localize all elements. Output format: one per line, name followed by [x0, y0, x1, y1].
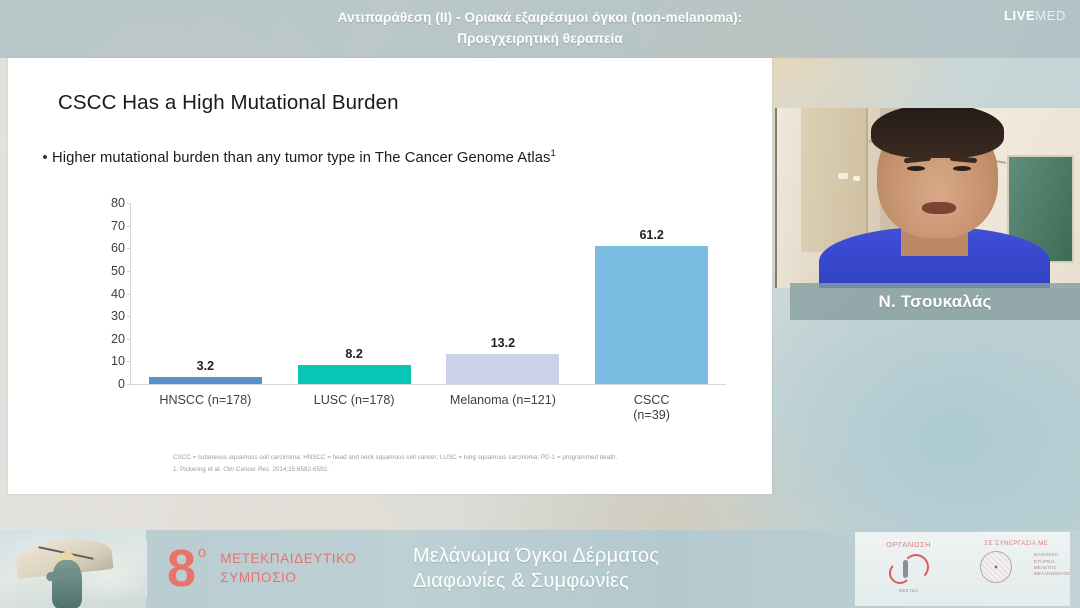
chart-bar-value-label: 61.2: [595, 228, 708, 242]
chart-x-tick-label: Melanoma (n=121): [432, 393, 573, 408]
chart-plot-area: 01020304050607080 3.2HNSCC (n=178)8.2LUS…: [130, 203, 726, 385]
chart-y-tick-label: 80: [111, 196, 125, 210]
slide-title: CSCC Has a High Mutational Burden: [58, 91, 399, 115]
chart-bar: [446, 354, 559, 384]
speaker-hair: [871, 108, 1004, 158]
session-title-line1: Αντιπαράθεση (II) - Οριακά εξαιρέσιμοι ό…: [338, 10, 743, 25]
video-background-cabinet-handle-secondary: [853, 176, 860, 181]
footnote-reference-journal: Clin Cancer Res.: [223, 466, 271, 473]
slide-bullet-superscript: 1: [550, 148, 555, 159]
mutational-burden-bar-chart: Median somatic mutation frequency/Mb 010…: [44, 195, 734, 430]
chart-y-tick-label: 0: [118, 377, 125, 391]
chart-bar-value-label: 3.2: [149, 359, 262, 373]
chart-y-tick-mark: [127, 384, 131, 385]
chart-x-tick-label: CSCC(n=39): [581, 393, 722, 423]
footnote-reference: 1. Pickering et al. Clin Cancer Res. 201…: [173, 464, 763, 476]
chart-x-tick-label: LUSC (n=178): [284, 393, 425, 408]
banner-event-title-line2: Διαφωνίες & Συμφωνίες: [413, 569, 855, 594]
slide-bullet-main: Higher mutational burden than any tumor …: [52, 150, 550, 166]
chart-bar-group: 8.2LUSC (n=178): [298, 203, 411, 384]
banner-edition-number: 8: [167, 547, 196, 591]
chart-bar: [595, 246, 708, 384]
speaker-eye-right: [953, 166, 971, 171]
banner-organizers: ΟΡΓΑΝΩΣΗ ΚΕΣΥΔΑ ΣΕ ΣΥΝΕΡΓΑΣΙΑ ΜΕ ΕΛΛΗΝΙΚ…: [855, 532, 1070, 606]
chart-bar-group: 13.2Melanoma (n=121): [446, 203, 559, 384]
banner-partner-caption: ΣΕ ΣΥΝΕΡΓΑΣΙΑ ΜΕ: [963, 540, 1071, 547]
session-title: Αντιπαράθεση (II) - Οριακά εξαιρέσιμοι ό…: [278, 8, 803, 50]
chart-y-tick-label: 20: [111, 332, 125, 346]
chart-y-tick-label: 40: [111, 287, 125, 301]
slide-bullet-text: Higher mutational burden than any tumor …: [52, 148, 556, 167]
chart-x-tick-label-line: HNSCC (n=178): [135, 393, 276, 408]
livemed-logo: LIVEMED: [1004, 8, 1066, 23]
chart-bar-value-label: 8.2: [298, 347, 411, 361]
chart-bar: [149, 377, 262, 384]
speaker-video-feed[interactable]: [775, 108, 1080, 288]
speaker-name: Ν. Τσουκαλάς: [878, 292, 991, 312]
footnote-reference-suffix: 2014;15:6582-6592.: [271, 466, 329, 473]
chart-bars-group: 3.2HNSCC (n=178)8.2LUSC (n=178)13.2Melan…: [131, 203, 726, 384]
speaker-eye-left: [907, 166, 925, 171]
banner-edition-block: 8 o ΜΕΤΕΚΠΑΙΔΕΥΤΙΚΟ ΣΥΜΠΟΣΙΟ: [147, 530, 397, 608]
session-title-line2: Προεγχειρητική θεραπεία: [457, 31, 623, 46]
banner-symposium-line2: ΣΥΜΠΟΣΙΟ: [220, 569, 356, 588]
banner-edition-ordinal: o: [198, 544, 206, 561]
banner-artwork-figure-body: [52, 560, 82, 608]
banner-organizer-block: ΟΡΓΑΝΩΣΗ ΚΕΣΥΔΑ: [855, 532, 963, 606]
speaker-name-banner: Ν. Τσουκαλάς: [790, 283, 1080, 320]
chart-bar-value-label: 13.2: [446, 336, 559, 350]
organizer-logo-label: ΚΕΣΥΔΑ: [887, 588, 931, 593]
partner-logo-icon: [980, 551, 1012, 583]
event-banner: 8 o ΜΕΤΕΚΠΑΙΔΕΥΤΙΚΟ ΣΥΜΠΟΣΙΟ Μελάνωμα Όγ…: [0, 530, 1080, 608]
slide-bullet-item: • Higher mutational burden than any tumo…: [38, 148, 738, 167]
chart-bar-group: 3.2HNSCC (n=178): [149, 203, 262, 384]
chart-x-tick-label: HNSCC (n=178): [135, 393, 276, 408]
chart-x-tick-label-line: (n=39): [581, 408, 722, 423]
speaker-mouth: [922, 202, 955, 215]
bullet-point-icon: •: [38, 148, 52, 167]
livemed-logo-light: MED: [1035, 8, 1066, 23]
organizer-logo-figure: [903, 560, 908, 578]
slide-canvas[interactable]: CSCC Has a High Mutational Burden • High…: [8, 58, 772, 494]
chart-y-tick-label: 60: [111, 241, 125, 255]
slide-footnotes: CSCC = cutaneous squamous cell carcinoma…: [173, 452, 763, 476]
chart-x-tick-label-line: LUSC (n=178): [284, 393, 425, 408]
chart-bar-group: 61.2CSCC(n=39): [595, 203, 708, 384]
banner-event-title-line1: Μελάνωμα Όγκοι Δέρματος: [413, 544, 855, 569]
banner-partner-block: ΣΕ ΣΥΝΕΡΓΑΣΙΑ ΜΕ ΕΛΛΗΝΙΚΗ ΕΤΑΙΡΕΙΑ ΜΕΛΕΤ…: [963, 532, 1071, 606]
chart-bar: [298, 365, 411, 384]
partner-logo-text: ΕΛΛΗΝΙΚΗ ΕΤΑΙΡΕΙΑ ΜΕΛΕΤΗΣ ΜΕΛΑΝΩΜΑΤΟΣ: [1034, 552, 1070, 578]
banner-symposium-label: ΜΕΤΕΚΠΑΙΔΕΥΤΙΚΟ ΣΥΜΠΟΣΙΟ: [220, 550, 356, 587]
livemed-logo-bold: LIVE: [1004, 8, 1035, 23]
organizer-logo-icon: ΚΕΣΥΔΑ: [887, 552, 931, 592]
footnote-abbreviations: CSCC = cutaneous squamous cell carcinoma…: [173, 452, 763, 464]
partner-logo-group: ΕΛΛΗΝΙΚΗ ΕΤΑΙΡΕΙΑ ΜΕΛΕΤΗΣ ΜΕΛΑΝΩΜΑΤΟΣ: [963, 547, 1071, 583]
presentation-viewer: Αντιπαράθεση (II) - Οριακά εξαιρέσιμοι ό…: [0, 0, 1080, 608]
chart-y-tick-label: 30: [111, 309, 125, 323]
banner-event-title: Μελάνωμα Όγκοι Δέρματος Διαφωνίες & Συμφ…: [397, 530, 855, 608]
chart-x-tick-label-line: CSCC: [581, 393, 722, 408]
chart-y-tick-label: 70: [111, 219, 125, 233]
chart-y-tick-label: 50: [111, 264, 125, 278]
banner-organizer-caption: ΟΡΓΑΝΩΣΗ: [855, 540, 963, 549]
banner-artwork: [0, 530, 146, 608]
chart-y-tick-label: 10: [111, 354, 125, 368]
partner-logo-line4: ΜΕΛΑΝΩΜΑΤΟΣ: [1034, 571, 1070, 577]
session-title-bar: Αντιπαράθεση (II) - Οριακά εξαιρέσιμοι ό…: [0, 0, 1080, 58]
footnote-reference-prefix: 1. Pickering et al.: [173, 466, 223, 473]
video-background-cabinet-handle: [838, 173, 848, 179]
banner-symposium-line1: ΜΕΤΕΚΠΑΙΔΕΥΤΙΚΟ: [220, 550, 356, 569]
chart-x-tick-label-line: Melanoma (n=121): [432, 393, 573, 408]
